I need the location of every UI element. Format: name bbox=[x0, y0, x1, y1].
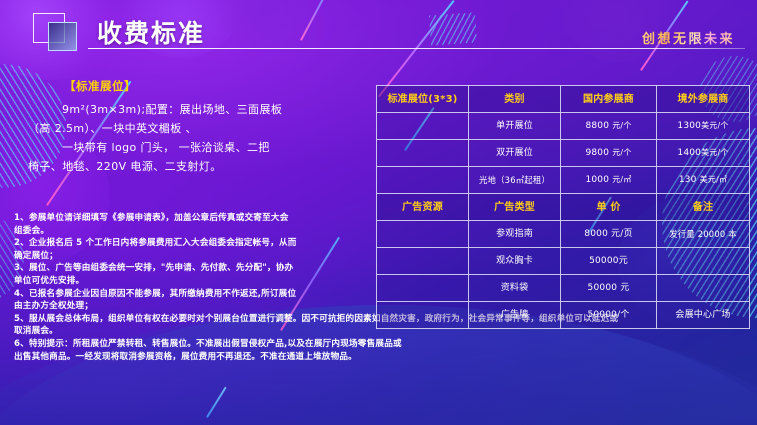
note-line: 1、参展单位请详细填写《参展申请表》，加盖公章后传真或交寄至大会 bbox=[14, 212, 370, 225]
table-header-row-booth: 标准展位(3*3) 类别 国内参展商 境外参展商 bbox=[377, 86, 750, 113]
price-value: 1400 bbox=[677, 148, 701, 158]
cell-blank bbox=[377, 248, 469, 275]
cell-ad-remark: 发行量 20000 本 bbox=[657, 221, 750, 248]
note-line: 由主办方全权处理； bbox=[14, 300, 370, 313]
note-line: 3、展位、广告等由组委会统一安排，"先申请、先付款、先分配"，协办 bbox=[14, 262, 370, 275]
cell-ad-price: 50000元 bbox=[561, 248, 657, 275]
table-row: 光地（36㎡起租） 1000 元/㎡ 130 美元/㎡ bbox=[377, 167, 750, 194]
price-value: 1000 bbox=[585, 175, 609, 185]
cell-blank bbox=[377, 221, 469, 248]
cell-ad-type: 参观指南 bbox=[469, 221, 561, 248]
standard-booth-section: 【标准展位】 9m²(3m×3m);配置：展出场地、三面展板 （高 2.5m）、… bbox=[28, 78, 380, 176]
pricing-table: 标准展位(3*3) 类别 国内参展商 境外参展商 单开展位 8800 元/个 1… bbox=[376, 85, 750, 329]
th-domestic: 国内参展商 bbox=[561, 86, 657, 113]
note-line: 4、已报名参展企业因自原因不能参展，其所缴纳费用不作返还,所订展位 bbox=[14, 288, 370, 301]
booth-desc-text: 9m²(3m×3m);配置：展出场地、三面展板 bbox=[62, 103, 282, 116]
price-unit: 元/个 bbox=[612, 121, 631, 130]
cell-overseas-price: 1300美元/个 bbox=[657, 113, 750, 140]
table-header-row-ad: 广告资源 广告类型 单 价 备注 bbox=[377, 194, 750, 221]
th-overseas: 境外参展商 bbox=[657, 86, 750, 113]
cell-overseas-price: 130 美元/㎡ bbox=[657, 167, 750, 194]
th-booth-spec: 标准展位(3*3) bbox=[377, 86, 469, 113]
note-line: 单位可优先安排。 bbox=[14, 275, 370, 288]
cell-domestic-price: 1000 元/㎡ bbox=[561, 167, 657, 194]
price-value: 1300 bbox=[677, 121, 701, 131]
cell-blank bbox=[377, 302, 469, 329]
table-row: 双开展位 9800 元/个 1400美元/个 bbox=[377, 140, 750, 167]
cell-ad-type: 广告牌 bbox=[469, 302, 561, 329]
table-row: 广告牌 50000/个 会展中心广场 bbox=[377, 302, 750, 329]
section-title: 【标准展位】 bbox=[64, 78, 380, 94]
price-value: 8800 bbox=[585, 121, 609, 131]
price-value: 130 bbox=[679, 175, 697, 185]
cell-blank bbox=[377, 140, 469, 167]
cell-ad-price: 50000/个 bbox=[561, 302, 657, 329]
price-unit: 美元/个 bbox=[701, 148, 729, 157]
note-line: 2、企业报名后 5 个工作日内将参展费用汇入大会组委会指定帐号，从而 bbox=[14, 237, 370, 250]
table-row: 参观指南 8000 元/页 发行量 20000 本 bbox=[377, 221, 750, 248]
note-line: 组委会。 bbox=[14, 225, 370, 238]
booth-desc-line: （高 2.5m）、一块中英文楣板 、 bbox=[28, 119, 380, 138]
cell-ad-remark bbox=[657, 275, 750, 302]
overlapping-squares-logo-icon bbox=[33, 13, 75, 51]
cell-ad-price: 50000 元 bbox=[561, 275, 657, 302]
table-row: 资料袋 50000 元 bbox=[377, 275, 750, 302]
slide-canvas: 收费标准 创想无限未来 【标准展位】 9m²(3m×3m);配置：展出场地、三面… bbox=[0, 0, 757, 425]
header-tagline: 创想无限未来 bbox=[642, 28, 735, 47]
th-unit-price: 单 价 bbox=[561, 194, 657, 221]
cell-ad-remark: 会展中心广场 bbox=[657, 302, 750, 329]
cell-ad-type: 观众胸卡 bbox=[469, 248, 561, 275]
cell-domestic-price: 8800 元/个 bbox=[561, 113, 657, 140]
price-unit: 美元/㎡ bbox=[700, 175, 728, 184]
booth-desc-text: 一块带有 logo 门头， 一张洽谈桌、二把 bbox=[62, 141, 270, 154]
price-unit: 元/个 bbox=[612, 148, 631, 157]
cell-blank bbox=[377, 275, 469, 302]
booth-desc-text: 椅子、地毯、220V 电源、二支射灯。 bbox=[28, 160, 222, 173]
booth-desc-line: 一块带有 logo 门头， 一张洽谈桌、二把 bbox=[28, 138, 380, 157]
cell-blank bbox=[377, 167, 469, 194]
logo-square-filled bbox=[48, 22, 77, 51]
note-line: 6、特别提示：所租展位严禁转租、转售展位。不准展出假冒侵权产品,以及在展厅内现场… bbox=[14, 338, 756, 351]
booth-desc-line: 椅子、地毯、220V 电源、二支射灯。 bbox=[28, 157, 380, 176]
price-unit: 元/㎡ bbox=[612, 175, 631, 184]
cell-overseas-price: 1400美元/个 bbox=[657, 140, 750, 167]
slide-header: 收费标准 创想无限未来 bbox=[0, 0, 757, 64]
cell-ad-price: 8000 元/页 bbox=[561, 221, 657, 248]
cell-domestic-price: 9800 元/个 bbox=[561, 140, 657, 167]
th-category: 类别 bbox=[469, 86, 561, 113]
th-ad-type: 广告类型 bbox=[469, 194, 561, 221]
page-title: 收费标准 bbox=[97, 14, 205, 50]
cell-ad-type: 资料袋 bbox=[469, 275, 561, 302]
cell-category: 光地（36㎡起租） bbox=[469, 167, 561, 194]
th-remark: 备注 bbox=[657, 194, 750, 221]
price-value: 9800 bbox=[585, 148, 609, 158]
table-row: 单开展位 8800 元/个 1300美元/个 bbox=[377, 113, 750, 140]
cell-ad-remark bbox=[657, 248, 750, 275]
booth-desc-text: （高 2.5m）、一块中英文楣板 、 bbox=[28, 122, 197, 135]
cell-category: 双开展位 bbox=[469, 140, 561, 167]
table-row: 观众胸卡 50000元 bbox=[377, 248, 750, 275]
note-line: 出售其他商品。一经发现将取消参展资格，展位费用不再退还。不准在通道上堆放物品。 bbox=[14, 351, 756, 364]
header-divider bbox=[88, 48, 745, 49]
note-line: 确定展位； bbox=[14, 250, 370, 263]
price-unit: 美元/个 bbox=[701, 121, 729, 130]
booth-desc-line: 9m²(3m×3m);配置：展出场地、三面展板 bbox=[28, 100, 380, 119]
cell-blank bbox=[377, 113, 469, 140]
cell-category: 单开展位 bbox=[469, 113, 561, 140]
th-ad-resource: 广告资源 bbox=[377, 194, 469, 221]
